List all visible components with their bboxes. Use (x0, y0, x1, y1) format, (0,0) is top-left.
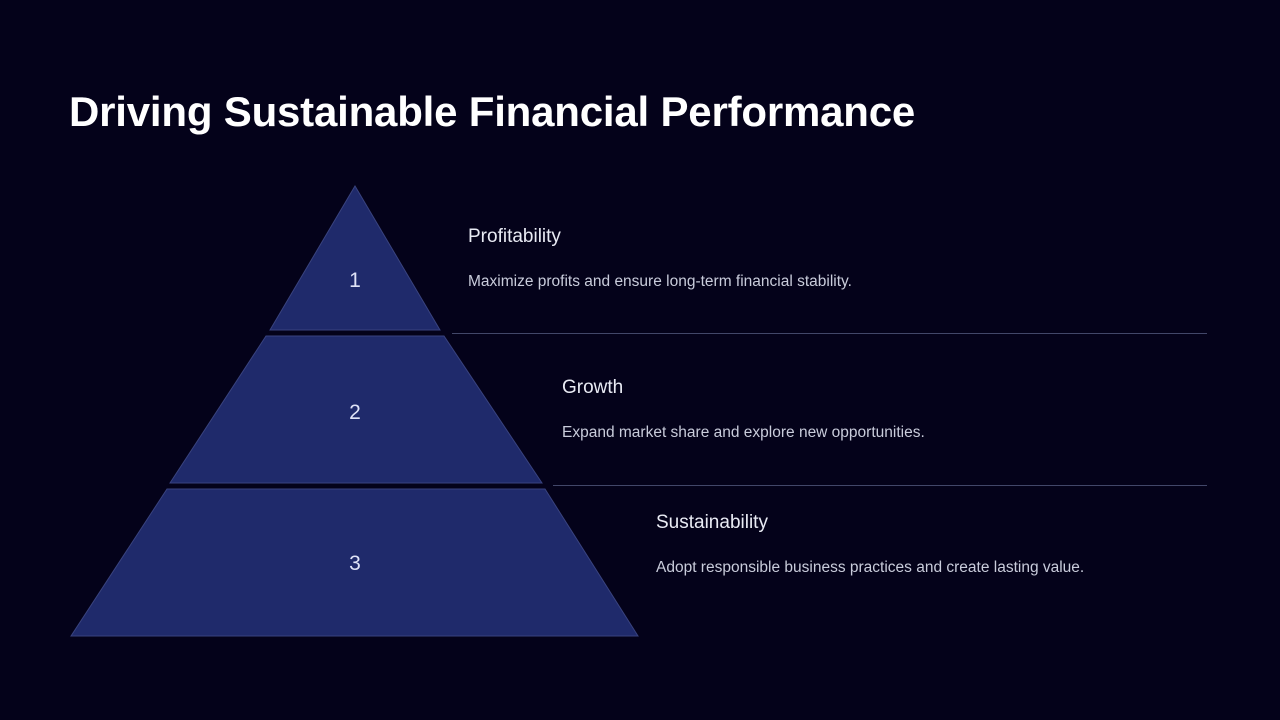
pyramid-tier-2-description: Expand market share and explore new oppo… (562, 420, 1162, 445)
pyramid-tier-1-text: Profitability Maximize profits and ensur… (468, 226, 1088, 294)
pyramid-tier-2-heading: Growth (562, 377, 1162, 400)
pyramid-tier-3-text: Sustainability Adopt responsible busines… (656, 512, 1151, 580)
pyramid-tier-1-description: Maximize profits and ensure long-term fi… (468, 269, 1088, 294)
pyramid-tier-1-number: 1 (325, 270, 385, 291)
pyramid-tier-1-heading: Profitability (468, 226, 1088, 249)
pyramid-tier-3-number: 3 (325, 553, 385, 574)
pyramid-tier-2-text: Growth Expand market share and explore n… (562, 377, 1162, 445)
pyramid-tier-3-heading: Sustainability (656, 512, 1151, 535)
pyramid-tier-1-shape[interactable] (270, 186, 440, 330)
pyramid-tier-3-description: Adopt responsible business practices and… (656, 555, 1151, 580)
tier-divider-1 (452, 333, 1207, 334)
slide-canvas: Driving Sustainable Financial Performanc… (0, 0, 1280, 720)
page-title: Driving Sustainable Financial Performanc… (69, 88, 915, 135)
tier-divider-2 (553, 485, 1207, 486)
pyramid-tier-2-number: 2 (325, 402, 385, 423)
